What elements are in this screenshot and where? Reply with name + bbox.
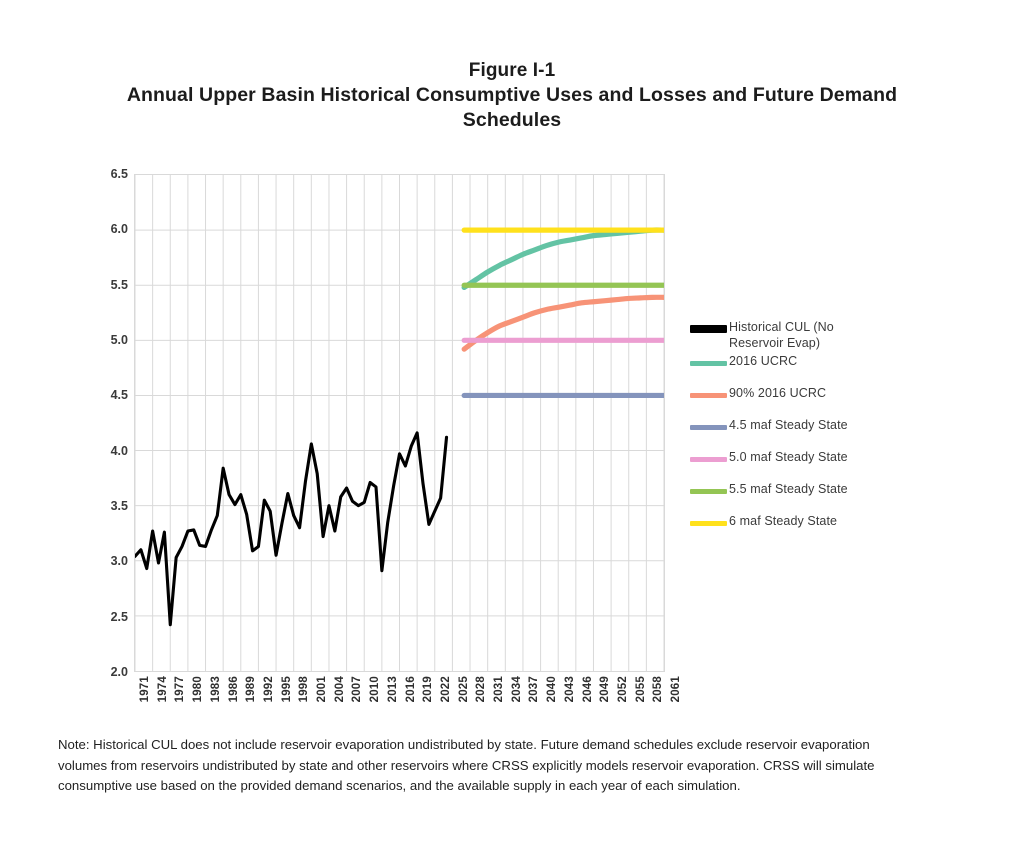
legend-item[interactable]: 5.5 maf Steady State	[690, 482, 848, 498]
legend-item[interactable]: 2016 UCRC	[690, 354, 797, 370]
x-axis-tick-label: 1995	[281, 676, 293, 702]
legend-color-swatch	[690, 521, 727, 526]
legend-item-label: 5.5 maf Steady State	[729, 482, 848, 498]
legend-item-label: Historical CUL (No Reservoir Evap)	[729, 320, 889, 351]
x-axis-tick-label: 2031	[493, 676, 505, 702]
legend-item[interactable]: Historical CUL (No Reservoir Evap)	[690, 320, 889, 351]
page-title-line2: Schedules	[70, 108, 954, 133]
x-axis-tick-label: 2049	[599, 676, 611, 702]
figure-note: Note: Historical CUL does not include re…	[58, 735, 884, 797]
x-axis-tick-label: 2061	[670, 676, 682, 702]
y-axis-tick-label: 2.0	[88, 665, 128, 679]
x-axis-tick-label: 2037	[528, 676, 540, 702]
legend-item-label: 4.5 maf Steady State	[729, 418, 848, 434]
x-axis-tick-label: 1983	[210, 676, 222, 702]
figure-page: Figure I-1 Annual Upper Basin Historical…	[0, 0, 1024, 846]
x-axis-tick-label: 1980	[192, 676, 204, 702]
x-axis-tick-label: 1989	[245, 676, 257, 702]
x-axis-tick-label: 1974	[157, 676, 169, 702]
legend-item-label: 5.0 maf Steady State	[729, 450, 848, 466]
x-axis-tick-label: 1971	[139, 676, 151, 702]
legend-color-swatch	[690, 393, 727, 398]
y-axis-ticks: 6.56.05.55.04.54.03.53.02.52.0	[84, 174, 128, 672]
y-axis-tick-label: 5.0	[88, 333, 128, 347]
x-axis-tick-label: 2034	[511, 676, 523, 702]
chart-container: Million Acre-Feet 6.56.05.55.04.54.03.53…	[0, 160, 1024, 720]
series-line	[464, 230, 664, 287]
y-axis-tick-label: 3.0	[88, 554, 128, 568]
y-axis-tick-label: 5.5	[88, 278, 128, 292]
x-axis-tick-label: 2019	[422, 676, 434, 702]
y-axis-tick-label: 6.5	[88, 167, 128, 181]
x-axis-tick-label: 2016	[405, 676, 417, 702]
x-axis-tick-label: 1992	[263, 676, 275, 702]
x-axis-tick-label: 2010	[369, 676, 381, 702]
legend-color-swatch	[690, 457, 727, 462]
x-axis-tick-label: 2052	[617, 676, 629, 702]
x-axis-ticks: 1971197419771980198319861989199219951998…	[134, 676, 665, 736]
chart-plot-svg	[135, 175, 664, 671]
x-axis-tick-label: 2004	[334, 676, 346, 702]
x-axis-tick-label: 2043	[564, 676, 576, 702]
legend-item[interactable]: 90% 2016 UCRC	[690, 386, 826, 402]
legend-item[interactable]: 4.5 maf Steady State	[690, 418, 848, 434]
legend-item[interactable]: 6 maf Steady State	[690, 514, 837, 530]
x-axis-tick-label: 2001	[316, 676, 328, 702]
page-title: Annual Upper Basin Historical Consumptiv…	[70, 83, 954, 108]
figure-number: Figure I-1	[70, 58, 954, 83]
x-axis-tick-label: 2007	[351, 676, 363, 702]
x-axis-tick-label: 2058	[652, 676, 664, 702]
figure-title-block: Figure I-1 Annual Upper Basin Historical…	[70, 58, 954, 133]
legend-item-label: 90% 2016 UCRC	[729, 386, 826, 402]
x-axis-tick-label: 2025	[458, 676, 470, 702]
x-axis-tick-label: 2040	[546, 676, 558, 702]
legend-color-swatch	[690, 361, 727, 366]
legend-item[interactable]: 5.0 maf Steady State	[690, 450, 848, 466]
x-axis-tick-label: 1998	[298, 676, 310, 702]
y-axis-tick-label: 3.5	[88, 499, 128, 513]
x-axis-tick-label: 1977	[174, 676, 186, 702]
legend-color-swatch	[690, 489, 727, 494]
y-axis-tick-label: 4.0	[88, 444, 128, 458]
x-axis-tick-label: 1986	[228, 676, 240, 702]
y-axis-tick-label: 4.5	[88, 388, 128, 402]
legend-item-label: 2016 UCRC	[729, 354, 797, 370]
plot-area	[134, 174, 665, 672]
legend-item-label: 6 maf Steady State	[729, 514, 837, 530]
y-axis-tick-label: 6.0	[88, 222, 128, 236]
x-axis-tick-label: 2046	[582, 676, 594, 702]
x-axis-tick-label: 2028	[475, 676, 487, 702]
legend-color-swatch	[690, 325, 727, 333]
y-axis-tick-label: 2.5	[88, 610, 128, 624]
x-axis-tick-label: 2022	[440, 676, 452, 702]
x-axis-tick-label: 2013	[387, 676, 399, 702]
legend-color-swatch	[690, 425, 727, 430]
x-axis-tick-label: 2055	[635, 676, 647, 702]
